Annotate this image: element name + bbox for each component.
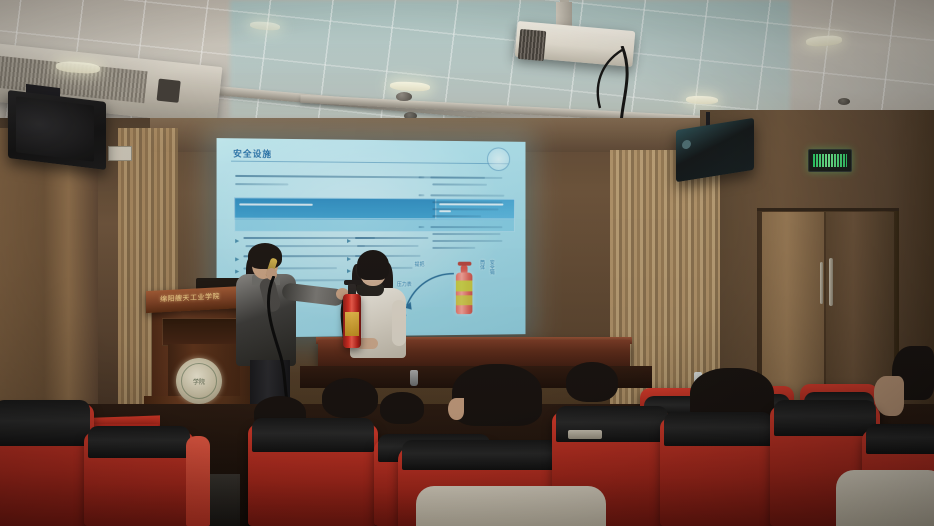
door-handle-right[interactable] <box>829 258 833 306</box>
left-wall-panel <box>0 128 98 428</box>
audience-shoulders-1 <box>416 486 606 526</box>
diagram-extinguisher-body <box>456 273 473 315</box>
diagram-label-gauge: 压力表 <box>397 282 412 288</box>
slide-bullet-icon-8 <box>347 269 351 273</box>
slide-right-item-c2 <box>432 233 500 235</box>
door-handle-left[interactable] <box>820 262 823 304</box>
slide-mid-bullet-1a <box>355 237 428 239</box>
audience-shoulders-2 <box>836 470 934 526</box>
presenter-hair <box>248 243 282 269</box>
slide-table-body <box>234 218 515 232</box>
slide-bullet-icon-3 <box>235 270 239 274</box>
exit-arrow-icon <box>813 154 847 167</box>
audience-head-5 <box>322 378 378 418</box>
diagram-extinguisher-band-2 <box>456 295 473 305</box>
ac-vent <box>157 79 181 103</box>
slide-right-item-b4 <box>432 215 481 217</box>
projector-vent <box>518 29 547 61</box>
university-emblem: 学院 <box>176 358 222 404</box>
seat-front-4-back <box>402 440 560 470</box>
slide-title: 安全设施 <box>233 147 272 160</box>
audience-head-6 <box>380 392 424 424</box>
slide-table-header-left <box>234 197 437 220</box>
extinguisher-label <box>345 312 359 336</box>
seat-front-2-back <box>252 418 374 452</box>
diagram-pointer-arrow <box>405 268 460 312</box>
slide-bullet-icon-2 <box>235 257 239 261</box>
smoke-detector-icon <box>396 92 412 101</box>
emblem-inner-text: 学院 <box>181 363 217 399</box>
slide-logo-icon <box>487 147 510 171</box>
slide-table-header-right-text-2 <box>439 210 451 212</box>
diagram-extinguisher-band-1 <box>456 280 473 291</box>
slide-bullet-icon-7 <box>347 257 351 261</box>
slide-bullet-icon-1 <box>235 239 239 243</box>
emergency-exit-sign <box>808 149 852 172</box>
wall-outlet-plate[interactable] <box>108 146 132 161</box>
diagram-label-body: 筒体 <box>479 260 486 294</box>
ceiling-speaker-icon-2 <box>838 98 850 105</box>
slide-bullet-icon-6 <box>347 239 351 243</box>
slide-right-marker-b <box>419 194 425 196</box>
speaker-cone-left <box>16 96 94 162</box>
seat-front-left-1-back <box>0 400 90 446</box>
seat-front-left-2-back <box>88 426 190 458</box>
seat-number-plate <box>568 430 602 439</box>
slide-right-item-c3 <box>432 240 502 242</box>
audience-head-1 <box>566 362 618 402</box>
seat-mid-2-back <box>664 412 772 446</box>
student-hair <box>357 250 389 280</box>
seat-right-1-back <box>774 400 876 436</box>
audience-head-2 <box>452 364 542 426</box>
slide-table-header-left-text <box>239 203 312 205</box>
slide-table-header-right-text-1 <box>439 203 503 205</box>
student-arm-right <box>392 300 406 346</box>
slide-mid-bullet-1b <box>357 245 419 247</box>
slide-right-marker-c <box>419 226 425 228</box>
seat-right-2-back <box>866 424 934 454</box>
diagram-label-pin: 安全销 <box>489 260 496 299</box>
diagram-label-handle: 提把 <box>415 262 425 268</box>
audience-ear-2 <box>448 398 464 420</box>
slide-right-item-c4 <box>432 247 475 249</box>
slide-right-item-c1 <box>430 226 502 228</box>
seat-front-left-arm <box>186 436 210 526</box>
water-bottle-2[interactable] <box>410 370 418 386</box>
slide-right-marker-a <box>419 176 425 178</box>
lecture-hall-photo: 安全设施 <box>0 0 934 526</box>
slide-right-item-b3 <box>432 208 498 210</box>
